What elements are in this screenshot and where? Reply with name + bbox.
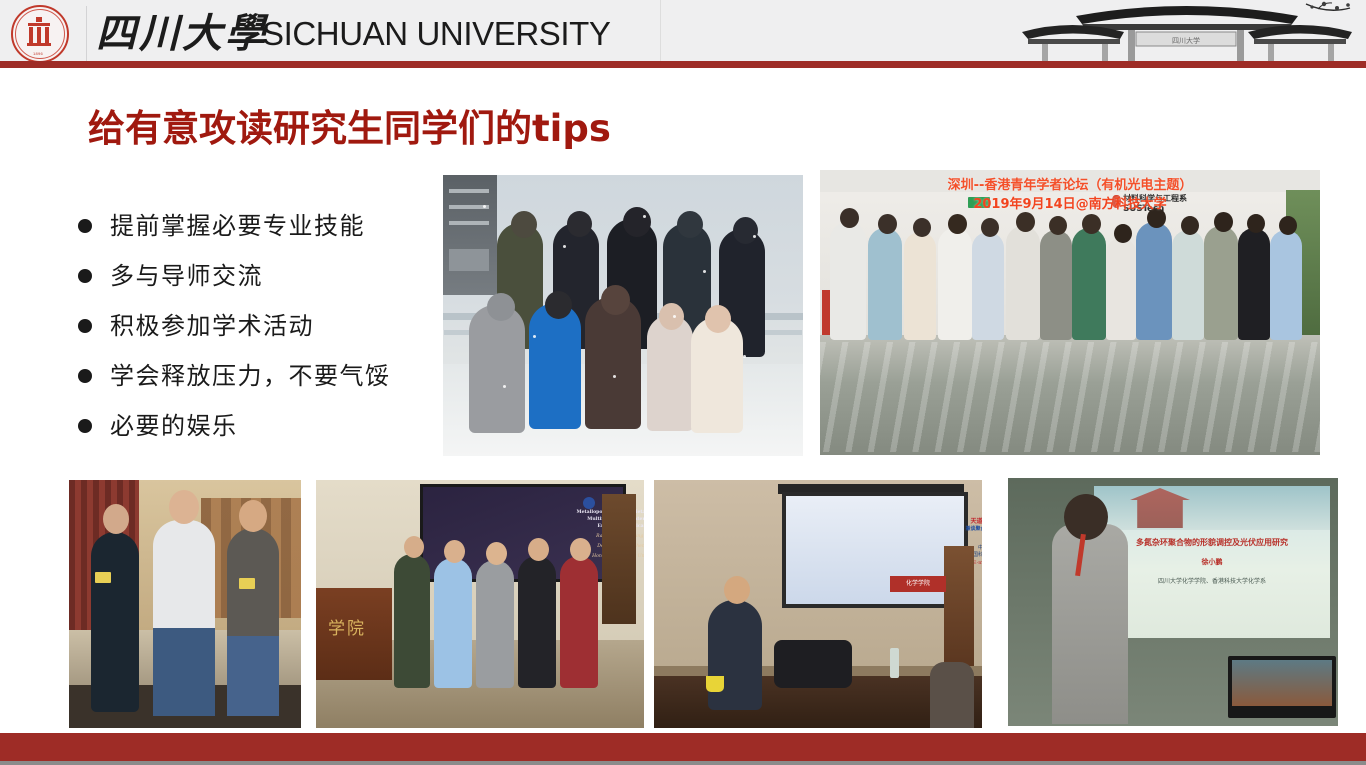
bullet-dot-icon — [78, 369, 92, 383]
person-head — [724, 576, 750, 604]
bullet-dot-icon — [78, 219, 92, 233]
list-item: 多与导师交流 — [78, 258, 458, 308]
person-figure — [560, 556, 598, 688]
person-head — [511, 211, 537, 238]
page-title: 给有意攻读研究生同学们的tips — [88, 98, 611, 152]
svg-text:四川大学: 四川大学 — [1172, 36, 1200, 45]
person-head — [1214, 212, 1233, 232]
person-head — [981, 218, 999, 237]
person-figure — [708, 600, 762, 710]
list-item: 提前掌握必要专业技能 — [78, 208, 458, 258]
bullet-dot-icon — [78, 319, 92, 333]
person-figure — [972, 232, 1004, 340]
five-people-after-lecture-photo: Metallopolymers and Metallopolymeric Mul… — [316, 480, 644, 728]
snow-signboard — [443, 175, 497, 295]
person-head — [1016, 212, 1035, 232]
person-figure — [1238, 228, 1270, 340]
person-head — [1114, 224, 1132, 243]
yellow-cup — [706, 676, 724, 692]
person-head — [840, 208, 859, 228]
list-item: 学会释放压力，不要气馁 — [78, 358, 458, 408]
bullet-dot-icon — [78, 269, 92, 283]
exit-sign-icon — [968, 197, 990, 208]
person-head — [705, 305, 731, 333]
list-item-label: 积极参加学术活动 — [110, 308, 314, 344]
water-bottle — [890, 648, 899, 678]
person-figure — [1052, 524, 1128, 724]
person-head — [1279, 216, 1297, 235]
lobby-ceiling — [820, 170, 1320, 192]
person-figure — [691, 317, 743, 433]
person-jeans — [227, 636, 279, 716]
person-figure — [1136, 222, 1172, 340]
person-figure — [394, 554, 430, 688]
slide-speaker: 李永舫 — [918, 537, 982, 545]
bullet-list: 提前掌握必要专业技能 多与导师交流 积极参加学术活动 学会释放压力，不要气馁 必… — [78, 208, 458, 458]
room-sign: 化学学院 — [890, 576, 946, 592]
person-figure — [91, 532, 139, 712]
person-head — [1147, 208, 1166, 228]
department-sign-cn: 材料科学与工程系 — [1123, 194, 1187, 203]
footer-accent-bar — [0, 733, 1366, 761]
confidence-monitor — [1228, 656, 1336, 718]
page-header: 1896 四川大學 SICHUAN UNIVERSITY 四川大学 — [0, 0, 1366, 67]
university-name-chinese: 四川大學 — [96, 8, 268, 60]
footer-bottom-line — [0, 761, 1366, 765]
bullet-dot-icon — [78, 419, 92, 433]
xu-xiaopeng-talk-photo: 多氮杂环聚合物的形貌调控及光伏应用研究 徐小鹏 四川大学化学学院、香港科技大学化… — [1008, 478, 1338, 726]
person-head — [545, 291, 572, 319]
room-door — [944, 546, 974, 666]
person-figure — [518, 556, 556, 688]
person-head — [659, 303, 684, 330]
sustech-torch-icon — [1112, 195, 1121, 208]
podium: 学院 — [316, 588, 392, 680]
backpack-on-table — [774, 640, 852, 688]
name-badge — [95, 572, 111, 583]
person-figure — [1270, 230, 1302, 340]
person-head — [570, 538, 591, 561]
person-figure — [930, 662, 974, 728]
person-figure — [1204, 226, 1238, 340]
list-item-label: 必要的娱乐 — [110, 408, 238, 444]
person-head — [487, 293, 515, 321]
podium-label: 学院 — [328, 614, 366, 639]
person-figure — [469, 305, 525, 433]
person-head — [486, 542, 507, 565]
list-item-label: 提前掌握必要专业技能 — [110, 208, 365, 244]
person-figure — [647, 315, 693, 431]
person-head — [1049, 216, 1067, 235]
list-item-label: 学会释放压力，不要气馁 — [110, 358, 391, 394]
group-photo-in-snow — [443, 175, 803, 456]
person-head — [1247, 214, 1265, 233]
person-head — [913, 218, 931, 237]
header-accent-bar — [0, 61, 1366, 68]
header-divider-secondary — [660, 0, 661, 67]
university-seal-logo: 1896 — [9, 3, 71, 65]
person-figure — [938, 228, 972, 340]
person-figure — [1006, 226, 1040, 340]
seal-tower-glyph — [27, 17, 51, 47]
person-figure — [1072, 228, 1106, 340]
person-figure — [434, 558, 472, 688]
list-item: 必要的娱乐 — [78, 408, 458, 458]
slide-header-band — [1094, 486, 1330, 530]
person-head — [1181, 216, 1199, 235]
slide-title-sub: 兼谈聚合物太阳电池最新研究进展 — [918, 526, 982, 534]
university-name-english: SICHUAN UNIVERSITY — [262, 14, 611, 54]
slide-speaker: 徐小鹏 — [1100, 556, 1324, 568]
list-item: 积极参加学术活动 — [78, 308, 458, 358]
person-figure — [830, 222, 866, 340]
person-head — [404, 536, 424, 558]
room-door — [602, 494, 636, 624]
person-head — [948, 214, 967, 234]
person-figure — [1172, 230, 1204, 340]
header-divider — [86, 6, 87, 61]
name-badge — [239, 578, 255, 589]
person-head — [623, 207, 651, 237]
person-figure — [1040, 230, 1072, 340]
person-figure — [904, 232, 936, 340]
person-head — [239, 500, 267, 532]
chinese-archway-icon: 四川大学 — [1006, 0, 1366, 67]
person-head — [1082, 214, 1101, 234]
slide-affiliation: 四川大学化学学院、香港科技大学化学系 — [1100, 576, 1324, 588]
person-head — [733, 217, 758, 244]
person-figure — [1106, 238, 1136, 340]
person-head — [677, 211, 703, 238]
university-logo-icon — [583, 497, 595, 509]
person-head — [601, 285, 630, 315]
person-figure — [585, 297, 641, 429]
person-head — [444, 540, 465, 563]
person-head — [1064, 494, 1108, 540]
list-item-label: 多与导师交流 — [110, 258, 263, 294]
person-figure — [476, 560, 514, 688]
three-people-conference-photo — [69, 480, 301, 728]
person-head — [878, 214, 897, 234]
person-head — [567, 211, 592, 237]
person-head — [103, 504, 129, 534]
invited-lecture-photo: 天道酬勤--我的人生感悟 兼谈聚合物太阳电池最新研究进展 李永舫 中国科学院化学… — [654, 480, 982, 728]
slide-title-main: 天道酬勤--我的人生感悟 — [918, 518, 982, 526]
person-head — [169, 490, 199, 524]
forum-group-photo-sustech: 材料科学与工程系 SUSTech 深圳--香港青年学者论坛（有机光电主题） 20… — [820, 170, 1320, 455]
slide-title: 多氮杂环聚合物的形貌调控及光伏应用研究 — [1136, 538, 1288, 547]
person-figure — [529, 303, 581, 429]
seal-year: 1896 — [9, 51, 67, 56]
floor-reflection — [820, 342, 1320, 452]
person-figure — [868, 228, 902, 340]
person-jeans — [153, 628, 215, 716]
person-head — [528, 538, 549, 561]
slide-text: 多氮杂环聚合物的形貌调控及光伏应用研究 徐小鹏 四川大学化学学院、香港科技大学化… — [1100, 534, 1324, 588]
